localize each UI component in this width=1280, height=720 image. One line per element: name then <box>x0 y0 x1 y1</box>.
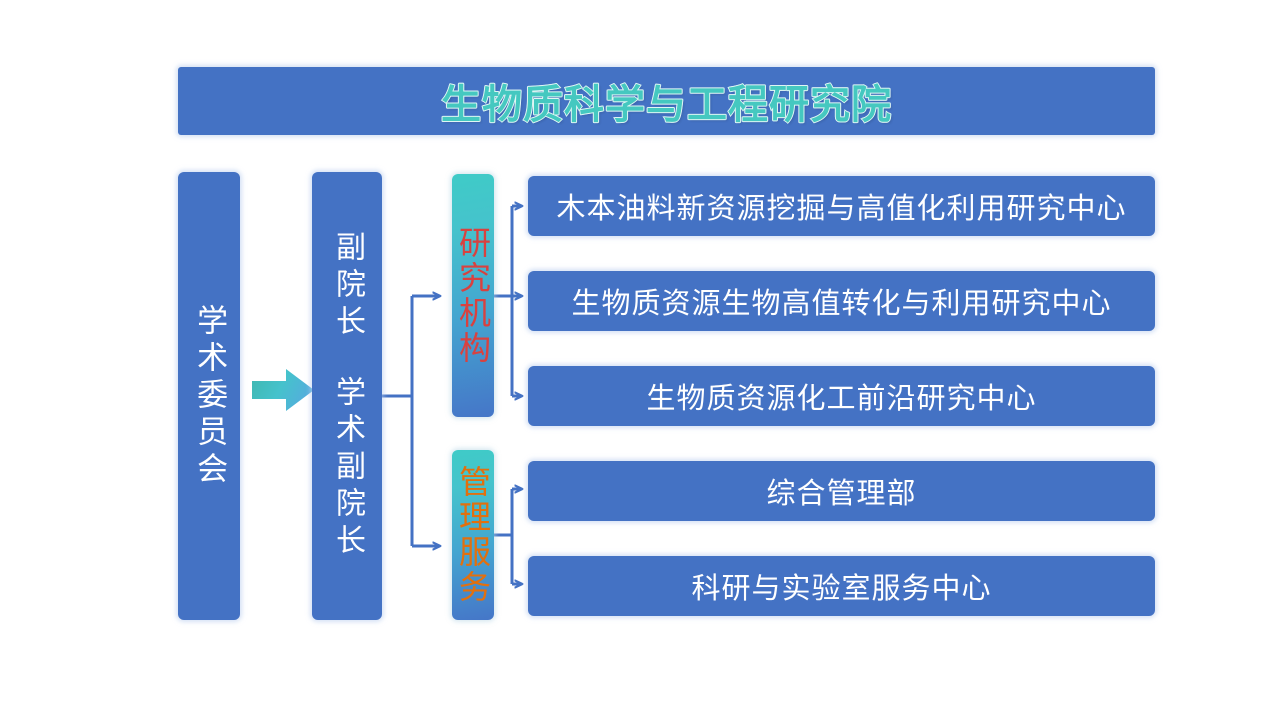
unit-box-woody-oil-research-center[interactable]: 木本油料新资源挖掘与高值化利用研究中心 <box>528 176 1155 236</box>
vice-dean-box[interactable]: 副院长 学术副院长 <box>312 172 382 620</box>
page-title-banner: 生物质科学与工程研究院 <box>178 67 1155 135</box>
unit-label: 木本油料新资源挖掘与高值化利用研究中心 <box>556 185 1126 227</box>
vice-dean-label-line2: 学术副院长 <box>325 376 369 561</box>
academic-committee-label: 学术委员会 <box>188 304 230 489</box>
unit-box-general-management-department[interactable]: 综合管理部 <box>528 461 1155 521</box>
unit-box-research-and-lab-service-center[interactable]: 科研与实验室服务中心 <box>528 556 1155 616</box>
category-strip-research[interactable]: 研究机构 <box>452 174 494 417</box>
unit-label: 科研与实验室服务中心 <box>691 565 991 607</box>
category-label-management: 管理服务 <box>450 465 496 605</box>
category-label-research: 研究机构 <box>450 226 496 366</box>
category-strip-management[interactable]: 管理服务 <box>452 450 494 620</box>
unit-box-biomass-chemical-frontier-research-center[interactable]: 生物质资源化工前沿研究中心 <box>528 366 1155 426</box>
right-arrow-icon <box>252 369 314 411</box>
vice-dean-label-line1: 副院长 <box>325 231 369 342</box>
org-chart-slide: 生物质科学与工程研究院 学术委员会 <box>0 0 1280 720</box>
unit-box-biomass-bioconversion-research-center[interactable]: 生物质资源生物高值转化与利用研究中心 <box>528 271 1155 331</box>
unit-label: 生物质资源生物高值转化与利用研究中心 <box>571 280 1111 322</box>
unit-label: 综合管理部 <box>766 470 916 512</box>
page-title: 生物质科学与工程研究院 <box>441 72 892 130</box>
academic-committee-box[interactable]: 学术委员会 <box>178 172 240 620</box>
unit-label: 生物质资源化工前沿研究中心 <box>646 375 1036 417</box>
